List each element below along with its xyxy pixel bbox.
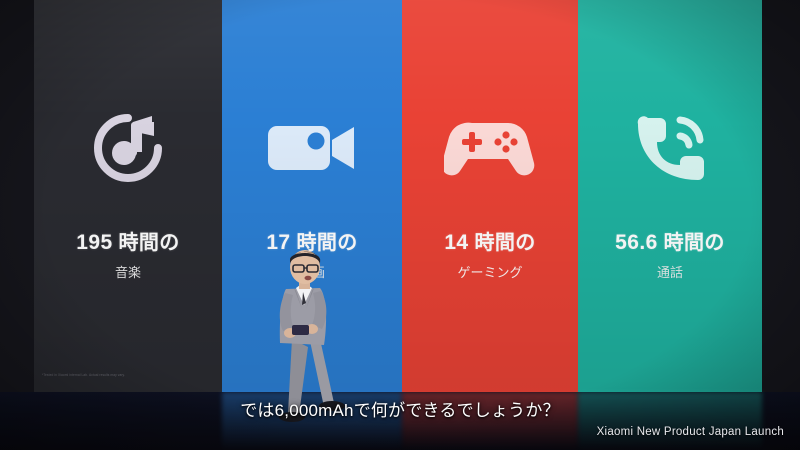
gamepad-icon xyxy=(402,96,578,200)
panel-hours-music: 195 時間の xyxy=(34,230,222,256)
panel-label-gaming: ゲーミング xyxy=(402,265,578,281)
panel-calling: 56.6 時間の 通話 xyxy=(578,0,762,392)
music-note-circle-icon xyxy=(34,96,222,200)
panel-music: 195 時間の 音楽 *Tested in Xiaomi internal La… xyxy=(34,0,222,392)
panel-hours-gaming: 14 時間の xyxy=(402,230,578,256)
phone-call-icon xyxy=(578,96,762,200)
panel-footnote-music: *Tested in Xiaomi internal Lab. Actual r… xyxy=(42,373,218,378)
subtitle-caption: では6,000mAhで何ができるでしょうか？ xyxy=(0,396,800,421)
panel-label-calling: 通話 xyxy=(578,265,762,281)
screen-right-bezel xyxy=(762,0,800,392)
presentation-stage: 195 時間の 音楽 *Tested in Xiaomi internal La… xyxy=(0,0,800,450)
screen-left-bezel xyxy=(0,0,34,392)
video-camera-icon xyxy=(222,96,402,200)
led-screen: 195 時間の 音楽 *Tested in Xiaomi internal La… xyxy=(0,0,800,392)
panel-hours-calling: 56.6 時間の xyxy=(578,230,762,256)
event-watermark: Xiaomi New Product Japan Launch xyxy=(597,426,784,438)
panel-gaming: 14 時間の ゲーミング xyxy=(402,0,578,392)
panel-label-music: 音楽 xyxy=(34,265,222,281)
